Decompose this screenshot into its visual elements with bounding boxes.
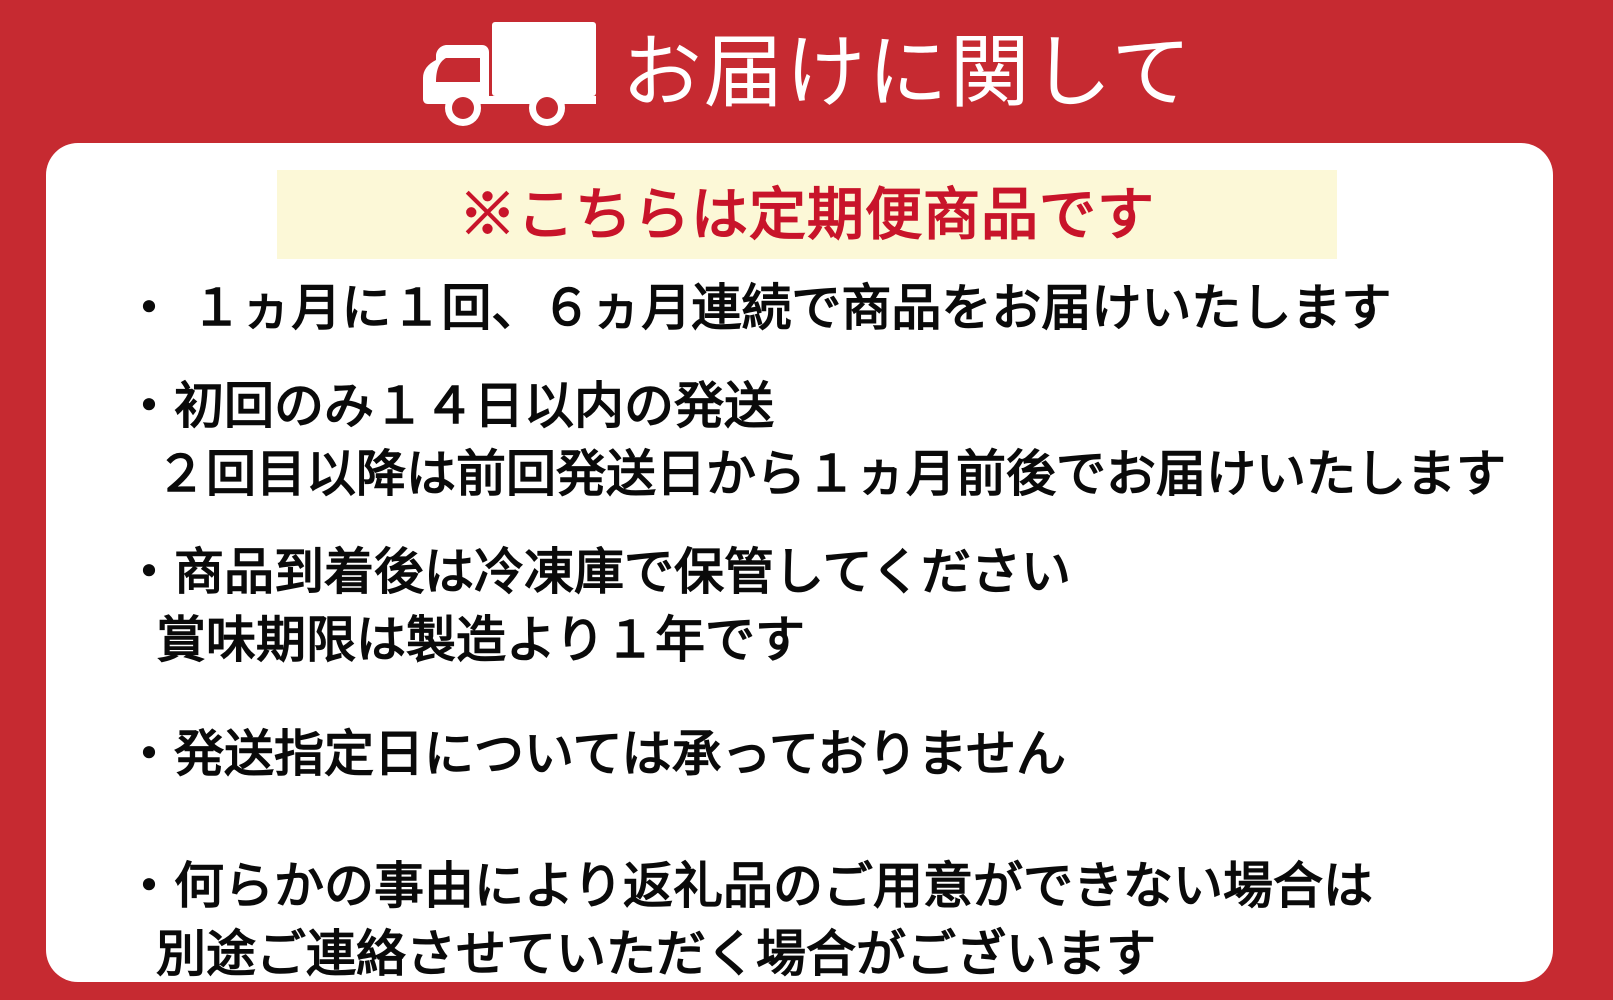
bullet-main-line: ・商品到着後は冷凍庫で保管してください	[124, 538, 1504, 606]
list-item: ・何らかの事由により返礼品のご用意ができない場合は 別途ご連絡させていただく場合…	[124, 852, 1504, 988]
bullet-sub-line: 賞味期限は製造より１年です	[124, 606, 1504, 674]
bullet-main-line: ・発送指定日については承っておりません	[124, 720, 1504, 788]
list-spacer	[124, 704, 1504, 720]
list-spacer	[124, 818, 1504, 852]
list-item: ・ １ヵ月に１回、６ヵ月連続で商品をお届けいたします	[124, 274, 1504, 342]
bullet-main-line: ・ １ヵ月に１回、６ヵ月連続で商品をお届けいたします	[124, 274, 1504, 342]
list-item: ・商品到着後は冷凍庫で保管してください 賞味期限は製造より１年です	[124, 538, 1504, 674]
subscription-notice-banner: ※こちらは定期便商品です	[277, 170, 1337, 259]
poster-header: お届けに関して	[0, 0, 1613, 143]
list-item: ・発送指定日については承っておりません	[124, 720, 1504, 788]
bullet-sub-line: ２回目以降は前回発送日から１ヵ月前後でお届けいたします	[124, 440, 1504, 508]
bullet-main-line: ・何らかの事由により返礼品のご用意ができない場合は	[124, 852, 1504, 920]
info-card: ※こちらは定期便商品です ・ １ヵ月に１回、６ヵ月連続で商品をお届けいたします …	[46, 143, 1553, 982]
delivery-info-poster: お届けに関して ※こちらは定期便商品です ・ １ヵ月に１回、６ヵ月連続で商品をお…	[0, 0, 1613, 1000]
bullet-main-line: ・初回のみ１４日以内の発送	[124, 372, 1504, 440]
delivery-truck-icon	[420, 22, 596, 126]
page-title: お届けに関して	[622, 33, 1194, 113]
delivery-terms-list: ・ １ヵ月に１回、６ヵ月連続で商品をお届けいたします ・初回のみ１４日以内の発送…	[124, 274, 1504, 988]
list-item: ・初回のみ１４日以内の発送 ２回目以降は前回発送日から１ヵ月前後でお届けいたしま…	[124, 372, 1504, 508]
bullet-sub-line: 別途ご連絡させていただく場合がございます	[124, 920, 1504, 988]
subscription-notice-text: ※こちらは定期便商品です	[459, 186, 1155, 243]
